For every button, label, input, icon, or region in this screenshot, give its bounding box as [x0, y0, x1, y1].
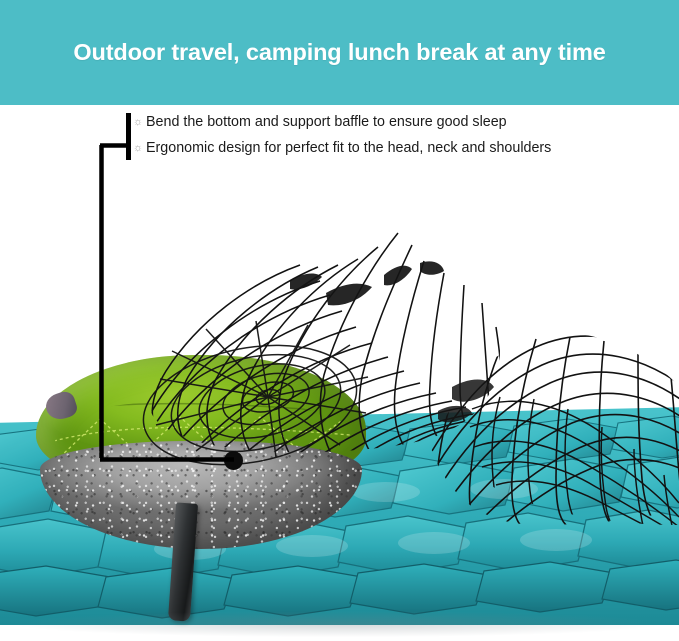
- leader-anchor-dot: [224, 451, 243, 470]
- bullet-circle-icon: ☼: [133, 139, 146, 158]
- product-scene: [0, 105, 679, 641]
- wireframe-figure: [0, 105, 679, 641]
- product-feature-image: Outdoor travel, camping lunch break at a…: [0, 0, 679, 641]
- page-title: Outdoor travel, camping lunch break at a…: [73, 39, 605, 66]
- ground-shadow: [18, 611, 658, 637]
- bullet-circle-icon: ☼: [133, 113, 146, 132]
- header-banner: Outdoor travel, camping lunch break at a…: [0, 0, 679, 105]
- callout-item: ☼ Bend the bottom and support baffle to …: [133, 113, 653, 139]
- callout-item: ☼ Ergonomic design for perfect fit to th…: [133, 139, 653, 165]
- callout-text: Bend the bottom and support baffle to en…: [146, 113, 507, 132]
- callout-list: ☼ Bend the bottom and support baffle to …: [133, 113, 653, 165]
- callout-text: Ergonomic design for perfect fit to the …: [146, 139, 551, 158]
